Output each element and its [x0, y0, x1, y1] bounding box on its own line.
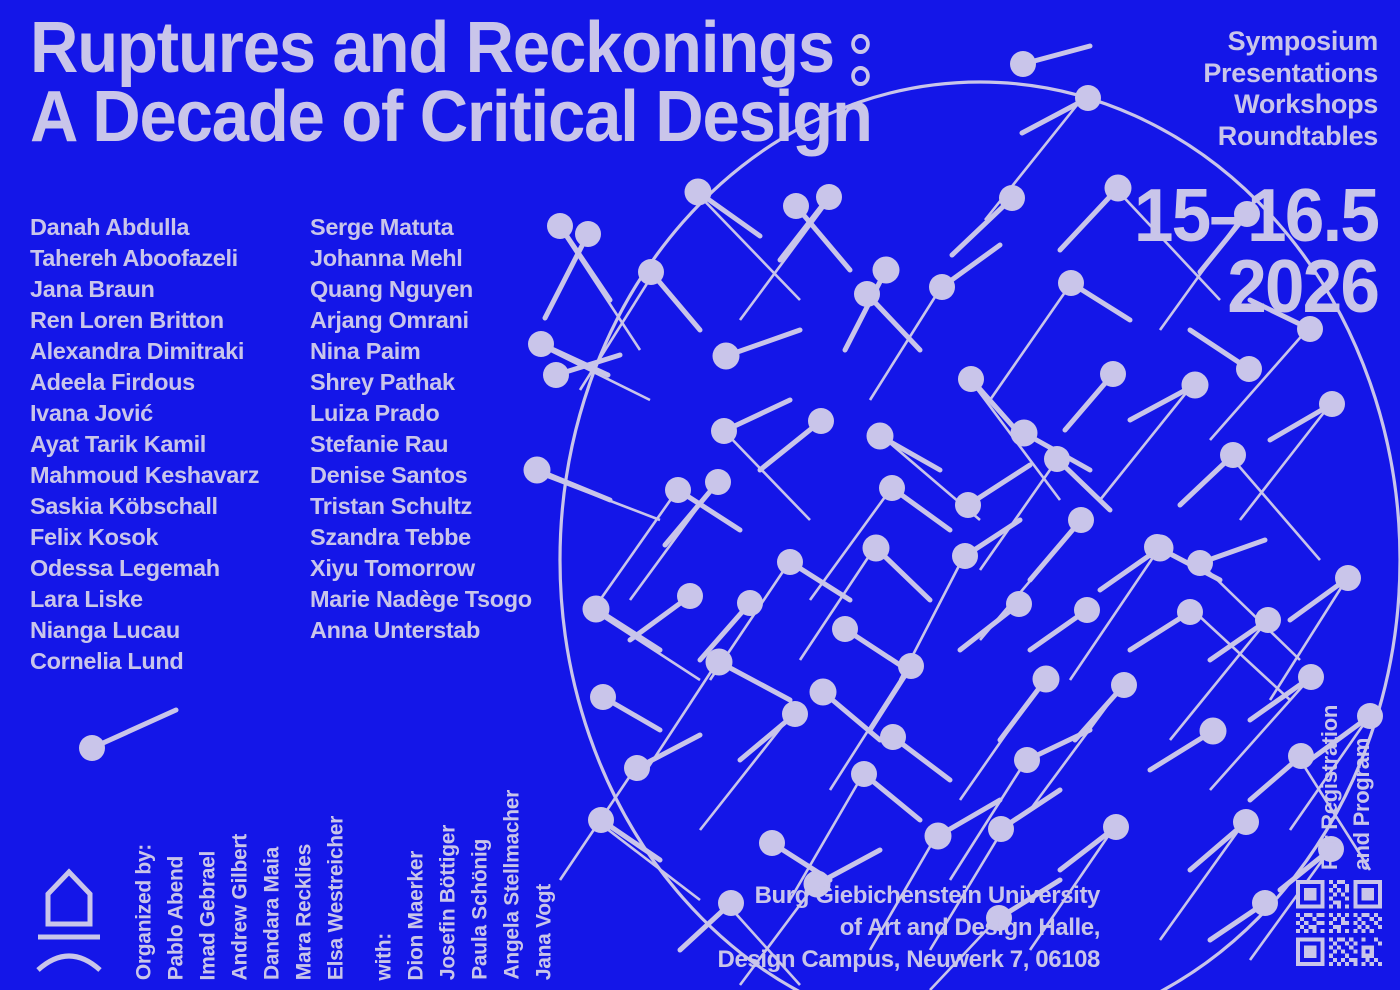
participant-name: Serge Matuta — [310, 212, 610, 243]
poster-canvas: Ruptures and Reckonings A Decade of Crit… — [0, 0, 1400, 990]
participant-name: Johanna Mehl — [310, 243, 610, 274]
participant-name: Luiza Prado — [310, 398, 610, 429]
qr-code[interactable] — [1296, 880, 1382, 966]
organizer-name: Andrew Gilbert — [224, 834, 256, 980]
venue-line-1: Burg Giebichenstein University — [718, 880, 1100, 912]
venue-address: Burg Giebichenstein University of Art an… — [718, 880, 1100, 976]
format-item: Symposium — [1203, 26, 1378, 58]
participants-column-1: Danah Abdulla Tahereh Aboofazeli Jana Br… — [30, 212, 310, 677]
with-name: Angela Stellmacher — [496, 790, 528, 980]
participant-name: Mahmoud Keshavarz — [30, 460, 310, 491]
participant-name: Stefanie Rau — [310, 429, 610, 460]
organizer-name: Pablo Abend — [160, 856, 192, 980]
participant-name: Shrey Pathak — [310, 367, 610, 398]
participant-name: Saskia Köbschall — [30, 491, 310, 522]
participant-name: Marie Nadège Tsogo — [310, 584, 610, 615]
participant-name: Nina Paim — [310, 336, 610, 367]
participant-name: Denise Santos — [310, 460, 610, 491]
format-item: Workshops — [1203, 89, 1378, 121]
registration-label: For Registration and Program — [1314, 705, 1378, 870]
participant-name: Danah Abdulla — [30, 212, 310, 243]
participant-name: Tristan Schultz — [310, 491, 610, 522]
participant-name: Quang Nguyen — [310, 274, 610, 305]
colon-rings-icon — [849, 14, 877, 86]
participant-name: Nianga Lucau — [30, 615, 310, 646]
participant-name: Tahereh Aboofazeli — [30, 243, 310, 274]
organizer-name: Elsa Westreicher — [320, 816, 352, 980]
participant-name: Szandra Tebbe — [310, 522, 610, 553]
participants-column-2: Serge Matuta Johanna Mehl Quang Nguyen A… — [310, 212, 610, 677]
participants-list: Danah Abdulla Tahereh Aboofazeli Jana Br… — [30, 212, 610, 677]
venue-line-2: of Art and Design Halle, — [718, 912, 1100, 944]
organizer-name: Mara Recklies — [288, 844, 320, 980]
date-range: 15–16.5 — [1134, 180, 1378, 251]
participant-name: Cornelia Lund — [30, 646, 310, 677]
credits-block: Organized by: Pablo Abend Imad Gebrael A… — [128, 790, 560, 980]
organizer-name: Imad Gebrael — [192, 851, 224, 980]
registration-line-2: and Program — [1346, 738, 1378, 870]
formats-list: Symposium Presentations Workshops Roundt… — [1203, 26, 1378, 152]
with-name: Dion Maerker — [400, 851, 432, 980]
with-name: Josefin Böttiger — [432, 825, 464, 980]
participant-name: Alexandra Dimitraki — [30, 336, 310, 367]
participant-name: Felix Kosok — [30, 522, 310, 553]
title-line-2: A Decade of Critical Design — [30, 83, 872, 152]
participant-name: Lara Liske — [30, 584, 310, 615]
participant-name: Odessa Legemah — [30, 553, 310, 584]
venue-line-3: Design Campus, Neuwerk 7, 06108 — [718, 944, 1100, 976]
organizer-name: Dandara Maia — [256, 847, 288, 980]
event-dates: 15–16.5 2026 — [1134, 180, 1378, 323]
with-name: Paula Schönig — [464, 839, 496, 980]
participant-name: Xiyu Tomorrow — [310, 553, 610, 584]
poster-title: Ruptures and Reckonings A Decade of Crit… — [30, 14, 872, 152]
with-name: Jana Vogt — [528, 884, 560, 980]
format-item: Roundtables — [1203, 121, 1378, 153]
participant-name: Ivana Jović — [30, 398, 310, 429]
participant-name: Adeela Firdous — [30, 367, 310, 398]
participant-name: Anna Unterstab — [310, 615, 610, 646]
date-year: 2026 — [1134, 251, 1378, 322]
organized-by-label: Organized by: — [128, 844, 160, 980]
registration-line-1: For Registration — [1314, 705, 1346, 870]
participant-name: Jana Braun — [30, 274, 310, 305]
participant-name: Arjang Omrani — [310, 305, 610, 336]
format-item: Presentations — [1203, 58, 1378, 90]
with-label: with: — [368, 933, 400, 980]
participant-name: Ayat Tarik Kamil — [30, 429, 310, 460]
title-line-1: Ruptures and Reckonings — [30, 14, 872, 83]
participant-name: Ren Loren Britton — [30, 305, 310, 336]
burg-giebichenstein-logo — [34, 866, 104, 974]
